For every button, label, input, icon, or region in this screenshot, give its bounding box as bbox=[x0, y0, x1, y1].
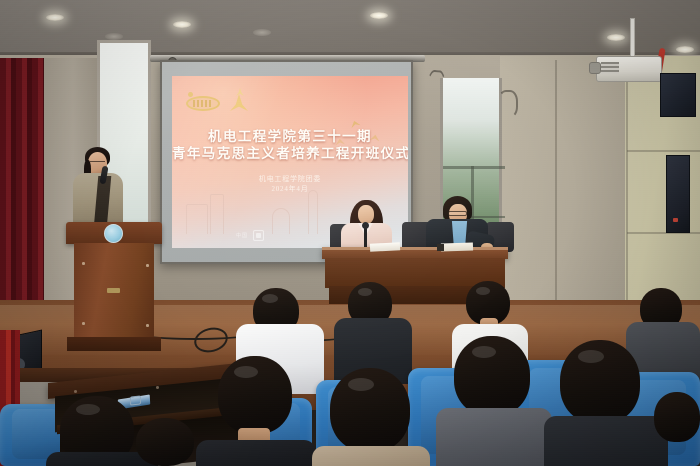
hair-highlight bbox=[358, 288, 372, 296]
audience-shirt bbox=[312, 446, 430, 466]
audience-head bbox=[654, 392, 700, 442]
projector-vent-grill bbox=[601, 62, 619, 74]
projector-lens-icon bbox=[589, 62, 601, 74]
skyline-building bbox=[308, 190, 318, 234]
podium-stud bbox=[146, 264, 149, 267]
desk-microphone-head bbox=[362, 222, 369, 229]
podium-body bbox=[74, 243, 154, 345]
notebook bbox=[441, 242, 473, 251]
ceiling-speaker bbox=[660, 73, 696, 117]
downlight-icon bbox=[607, 34, 625, 41]
audience-shirt bbox=[544, 416, 668, 466]
hair-highlight bbox=[578, 350, 604, 363]
audience-shirt bbox=[196, 440, 316, 466]
hair-highlight bbox=[348, 378, 374, 391]
notebook-spine bbox=[437, 244, 444, 251]
podium-stud bbox=[82, 262, 85, 265]
glasses-icon bbox=[448, 211, 467, 216]
bird-icon bbox=[349, 119, 361, 129]
hair-highlight bbox=[76, 404, 100, 415]
audience-shirt bbox=[436, 408, 552, 466]
photo-scene: 机电工程学院第三十一期 青年马克思主义者培养工程开班仪式 机电工程学院团委 20… bbox=[0, 0, 700, 466]
desk-stud bbox=[156, 386, 159, 389]
podium-stud bbox=[82, 322, 85, 325]
downlight-icon bbox=[370, 12, 388, 19]
window-mullion bbox=[443, 166, 505, 169]
downlight-icon bbox=[105, 33, 123, 40]
podium-stud bbox=[146, 324, 149, 327]
audience-head bbox=[136, 418, 194, 466]
podium-emblem bbox=[104, 224, 123, 243]
hair-highlight bbox=[476, 287, 490, 295]
binder-rings-icon bbox=[130, 395, 141, 405]
hair-highlight bbox=[472, 346, 496, 358]
screen-glare bbox=[172, 76, 314, 248]
podium-nameplate bbox=[107, 288, 120, 293]
downlight-icon bbox=[676, 46, 694, 53]
speaker-led-icon bbox=[673, 218, 678, 222]
downlight-icon bbox=[46, 14, 64, 21]
wall-cable bbox=[498, 90, 518, 118]
wall-speaker bbox=[666, 155, 690, 233]
downlight-icon bbox=[253, 29, 271, 36]
glasses-icon bbox=[90, 161, 105, 165]
hair-highlight bbox=[234, 366, 258, 378]
podium-base bbox=[67, 337, 161, 351]
wall-seam bbox=[627, 150, 700, 152]
hair-highlight bbox=[262, 294, 278, 303]
papers-on-table bbox=[370, 242, 400, 252]
downlight-icon bbox=[173, 21, 191, 28]
projector-mount bbox=[630, 18, 635, 58]
desk-stud bbox=[74, 390, 77, 393]
head-table-edge-highlight bbox=[322, 247, 508, 250]
